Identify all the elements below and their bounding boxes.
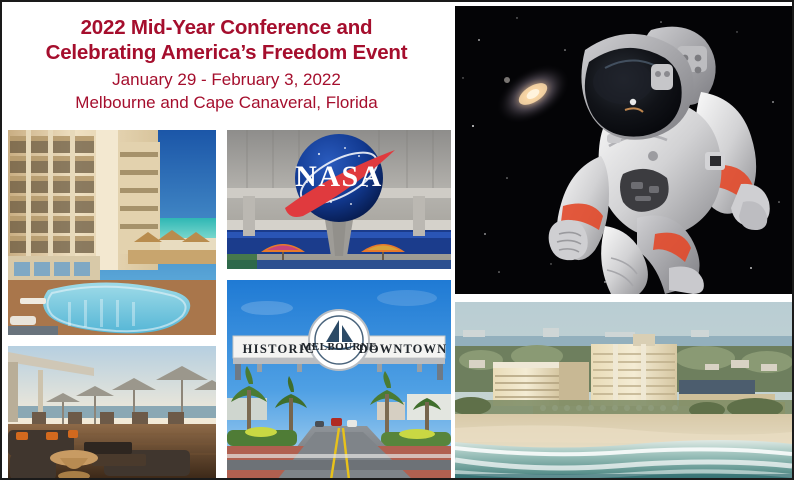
beachside-lounge-photo xyxy=(8,346,216,480)
poster-header: 2022 Mid-Year Conference and Celebrating… xyxy=(2,2,451,126)
astronaut-spacewalk-photo xyxy=(455,6,792,294)
sign-text-downtown: DOWNTOWN xyxy=(359,342,447,356)
page-title-line-2: Celebrating America’s Freedom Event xyxy=(46,40,408,65)
page-title-line-1: 2022 Mid-Year Conference and xyxy=(81,15,373,40)
conference-dates: January 29 - February 3, 2022 xyxy=(112,68,341,91)
conference-location: Melbourne and Cape Canaveral, Florida xyxy=(75,91,377,114)
nasa-meatball-sign-photo: NASA xyxy=(227,130,451,269)
aerial-beach-resort-photo xyxy=(455,302,792,480)
historic-downtown-melbourne-sign-photo: HISTORIC MELBOURNE DOWNTOWN xyxy=(227,280,451,480)
conference-poster: 2022 Mid-Year Conference and Celebrating… xyxy=(0,0,794,480)
svg-text:NASA: NASA xyxy=(295,160,383,193)
resort-pool-photo xyxy=(8,130,216,335)
